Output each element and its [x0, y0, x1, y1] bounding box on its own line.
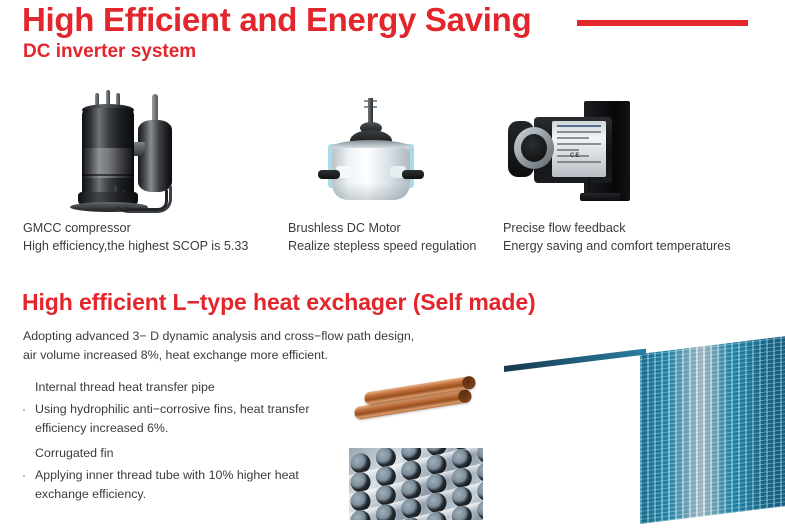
bullet-row: · Using hydrophilic anti−corrosive fins,… — [22, 400, 309, 438]
feature-description: Realize stepless speed regulation — [288, 237, 476, 255]
feature-caption-compressor: GMCC compressor High efficiency,the high… — [23, 219, 248, 255]
tube-bore — [461, 375, 476, 390]
bullet-text: Applying inner thread tube with 10% high… — [35, 466, 299, 504]
mounting-plate — [70, 202, 148, 212]
flow-port-opening — [514, 127, 554, 169]
feature-caption-flow: Precise flow feedback Energy saving and … — [503, 219, 731, 255]
bullet-line: exchange efficiency. — [35, 485, 299, 504]
label-line — [557, 125, 601, 127]
section-heading-heat-exchanger: High efficient L−type heat exchager (Sel… — [22, 289, 536, 315]
bullet-line: Applying inner thread tube with 10% high… — [35, 466, 299, 485]
bullet-marker-icon: · — [22, 400, 35, 419]
feature-title: Precise flow feedback — [503, 219, 731, 237]
title-underline-rule — [577, 20, 748, 26]
corrugated-fin-plate-photo — [349, 448, 483, 520]
paragraph-line: Adopting advanced 3− D dynamic analysis … — [23, 327, 414, 346]
ce-mark-icon: CE — [570, 153, 580, 159]
label-line — [557, 131, 601, 133]
paragraph-line: air volume increased 8%, heat exchange m… — [23, 346, 414, 365]
fin-collar-hole — [475, 498, 483, 520]
product-spec-sheet: High Efficient and Energy Saving DC inve… — [0, 0, 785, 530]
flow-feedback-sensor-photo: CE — [506, 101, 646, 205]
bullet-row: · Applying inner thread tube with 10% hi… — [22, 466, 299, 504]
accumulator-cylinder — [138, 120, 172, 192]
mounting-lug — [402, 170, 424, 179]
label-line — [557, 149, 579, 151]
fin-collar-hole — [374, 502, 398, 520]
bullet-marker-icon: · — [22, 466, 35, 485]
page-title: High Efficient and Energy Saving — [22, 2, 531, 38]
sensor-rating-label — [552, 121, 606, 177]
copper-inner-thread-tubes-photo — [348, 374, 482, 436]
section-paragraph: Adopting advanced 3− D dynamic analysis … — [23, 327, 414, 365]
label-line — [557, 137, 589, 139]
blue-hydrophilic-fin-block-photo — [498, 356, 785, 530]
bullet-line: efficiency increased 6%. — [35, 419, 309, 438]
page-subtitle: DC inverter system — [23, 41, 196, 63]
feature-title: GMCC compressor — [23, 219, 248, 237]
tube-bore — [457, 389, 472, 404]
fin-collar-hole — [475, 479, 483, 503]
sensor-foot — [580, 193, 620, 201]
label-line — [557, 161, 601, 163]
bullet-title: Corrugated fin — [35, 444, 299, 463]
feature-description: Energy saving and comfort temperatures — [503, 237, 731, 255]
fin-block-side-face — [640, 336, 785, 524]
feature-caption-motor: Brushless DC Motor Realize stepless spee… — [288, 219, 476, 255]
bullet-group-corrugated-fin: Corrugated fin · Applying inner thread t… — [22, 444, 299, 504]
bullet-group-thread-pipe: Internal thread heat transfer pipe · Usi… — [22, 378, 309, 438]
feature-title: Brushless DC Motor — [288, 219, 476, 237]
brushless-dc-motor-photo — [312, 96, 430, 206]
bullet-line: Using hydrophilic anti−corrosive fins, h… — [35, 400, 309, 419]
feature-description: High efficiency,the highest SCOP is 5.33 — [23, 237, 248, 255]
label-line — [557, 143, 601, 145]
rotary-compressor-photo — [52, 86, 180, 214]
bullet-title: Internal thread heat transfer pipe — [35, 378, 309, 397]
bullet-text: Using hydrophilic anti−corrosive fins, h… — [35, 400, 309, 438]
mounting-lug — [318, 170, 340, 179]
fin-collar-hole — [475, 460, 483, 484]
fin-block-front-face — [504, 353, 644, 526]
